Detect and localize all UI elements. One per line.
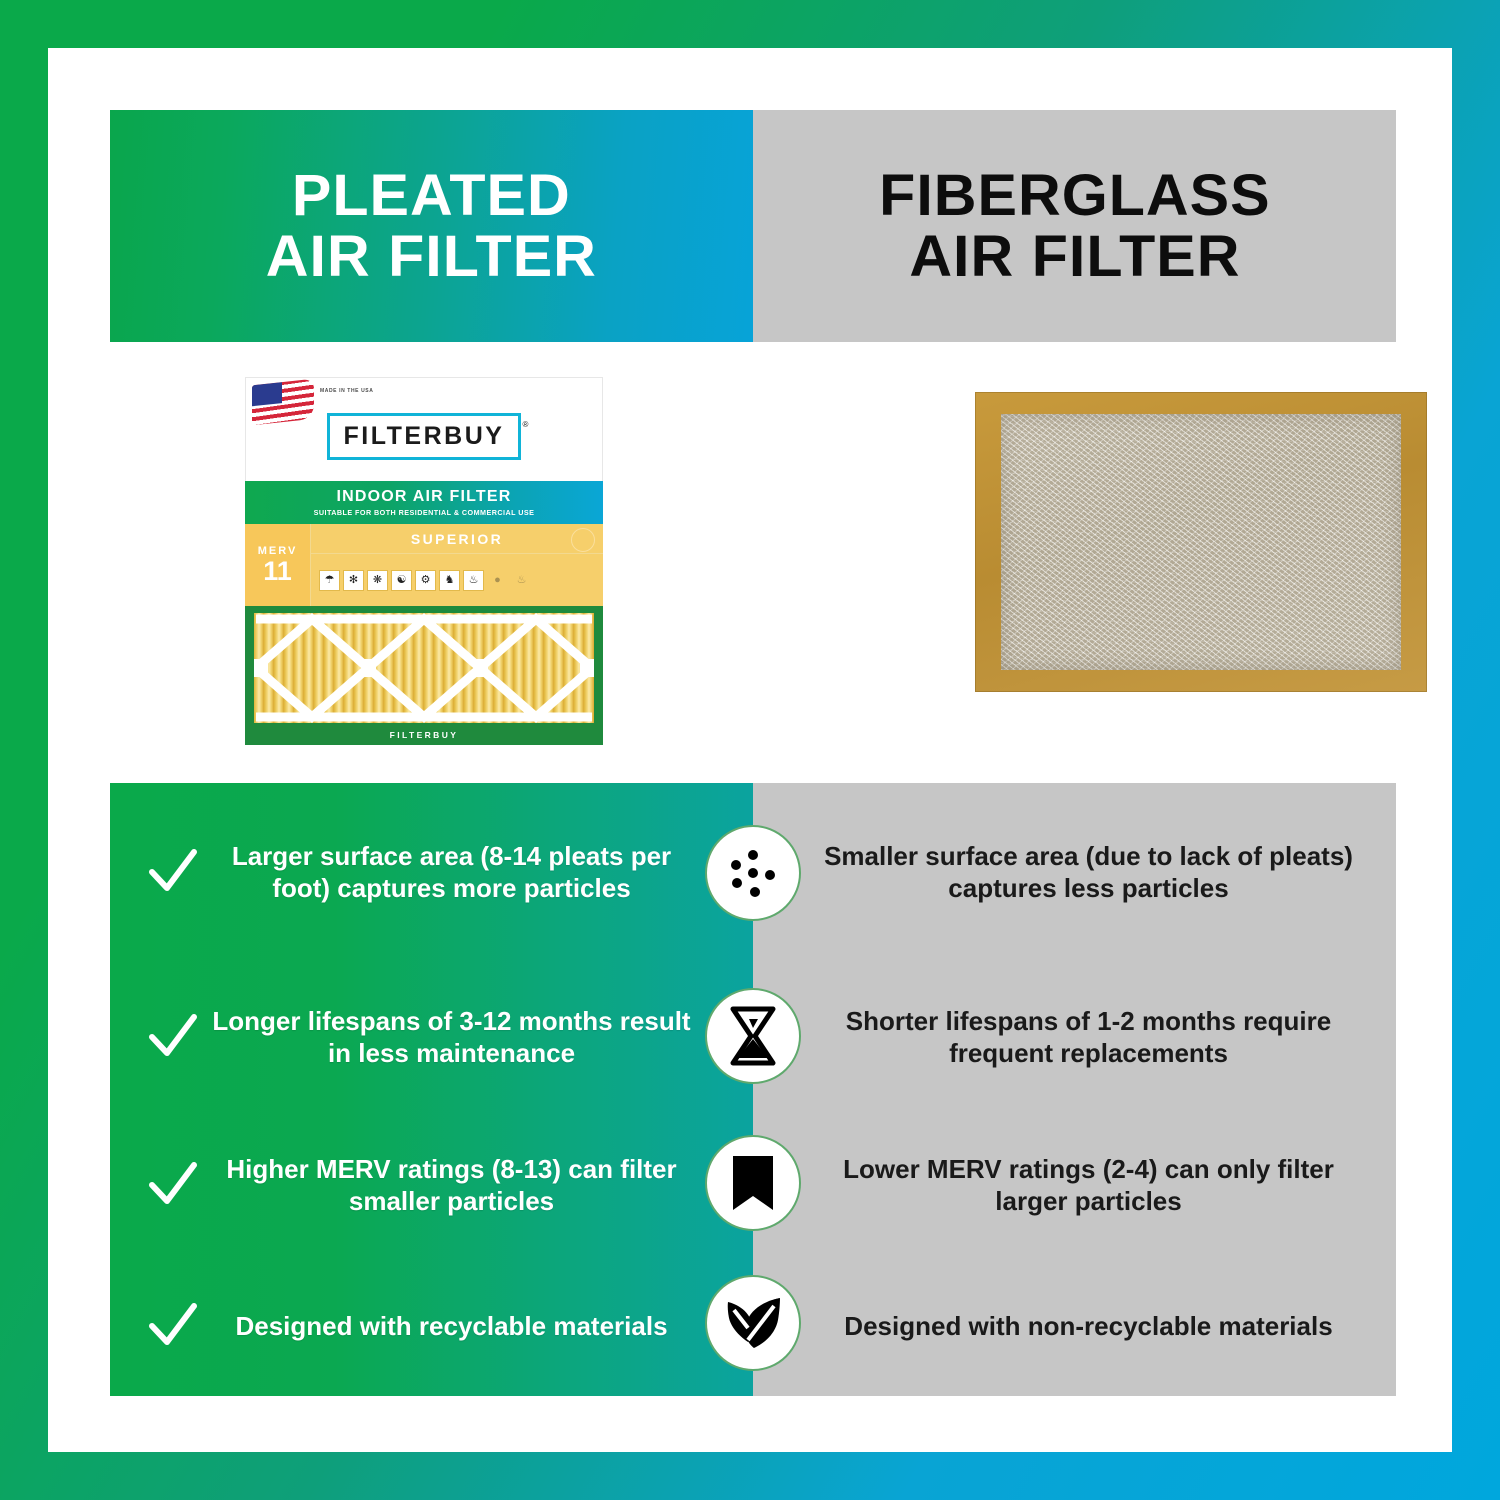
- product-cell-pleated: MADE IN THE USA FILTERBUY ® INDOOR AIR F…: [110, 342, 753, 783]
- comparison-text-pleated: Longer lifespans of 3-12 months result i…: [210, 1006, 693, 1069]
- fiberglass-media: [1001, 414, 1401, 670]
- checkmark-icon: [146, 1300, 200, 1354]
- made-in-usa-label: MADE IN THE USA: [320, 388, 373, 396]
- medallion-leaf: [705, 1275, 801, 1371]
- comparison-text-pleated: Designed with recyclable materials: [210, 1311, 693, 1343]
- medallion-hourglass: [705, 988, 801, 1084]
- comparison-cell-pleated: Designed with recyclable materials: [110, 1258, 753, 1396]
- header-fiberglass-title: FIBERGLASS AIR FILTER: [879, 165, 1270, 288]
- checkmark-icon: [146, 1011, 200, 1065]
- package-top-section: MADE IN THE USA FILTERBUY ®: [245, 377, 603, 481]
- hourglass-icon: [725, 1005, 781, 1067]
- product-cell-fiberglass: [753, 342, 1396, 783]
- usa-flag-icon: [252, 379, 314, 426]
- bookmark-icon: [729, 1154, 777, 1212]
- comparison-cell-fiberglass: Designed with non-recyclable materials: [753, 1258, 1396, 1396]
- smoke-icon: ♨: [463, 570, 484, 591]
- package-tier-label: SUPERIOR: [311, 524, 603, 554]
- comparison-cell-pleated: Larger surface area (8-14 pleats per foo…: [110, 783, 753, 963]
- dust-icon: ☂: [319, 570, 340, 591]
- comparison-text-fiberglass: Designed with non-recyclable materials: [844, 1311, 1332, 1343]
- trademark-symbol: ®: [523, 420, 529, 429]
- header-pleated-title: PLEATED AIR FILTER: [266, 165, 597, 288]
- comparison-infographic: PLEATED AIR FILTER FIBERGLASS AIR FILTER…: [0, 0, 1500, 1500]
- package-feature-icons: ☂ ✻ ❋ ☯ ⚙ ♞ ♨ ● ♨: [311, 554, 603, 606]
- comparison-cell-fiberglass: Shorter lifespans of 1-2 months require …: [753, 963, 1396, 1113]
- fiberglass-filter-product-image: [975, 392, 1427, 692]
- dust-mite-icon: ✻: [343, 570, 364, 591]
- package-banner: INDOOR AIR FILTER SUITABLE FOR BOTH RESI…: [245, 481, 603, 524]
- package-banner-title: INDOOR AIR FILTER: [336, 488, 511, 506]
- comparison-text-fiberglass: Lower MERV ratings (2-4) can only filter…: [821, 1154, 1356, 1217]
- comparison-text-pleated: Larger surface area (8-14 pleats per foo…: [210, 841, 693, 904]
- comparison-rows: Larger surface area (8-14 pleats per foo…: [110, 783, 1396, 1396]
- comparison-text-fiberglass: Smaller surface area (due to lack of ple…: [821, 841, 1356, 904]
- bacteria-icon: ⚙: [415, 570, 436, 591]
- filterbuy-logo-text: FILTERBUY: [344, 422, 505, 450]
- comparison-panel: Larger surface area (8-14 pleats per foo…: [110, 783, 1396, 1396]
- product-images-row: MADE IN THE USA FILTERBUY ® INDOOR AIR F…: [110, 342, 1396, 783]
- white-support-lattice: [254, 613, 594, 723]
- pet-dander-icon: ♞: [439, 570, 460, 591]
- comparison-cell-fiberglass: Smaller surface area (due to lack of ple…: [753, 783, 1396, 963]
- header-row: PLEATED AIR FILTER FIBERGLASS AIR FILTER: [110, 110, 1396, 342]
- package-tier-section: SUPERIOR ☂ ✻ ❋ ☯ ⚙ ♞ ♨ ● ♨: [311, 524, 603, 606]
- particles-icon: [722, 842, 784, 904]
- mold-spore-icon: ☯: [391, 570, 412, 591]
- virus-icon: ●: [487, 570, 508, 591]
- medallion-bookmark: [705, 1135, 801, 1231]
- package-banner-subtitle: SUITABLE FOR BOTH RESIDENTIAL & COMMERCI…: [314, 508, 535, 517]
- comparison-cell-fiberglass: Lower MERV ratings (2-4) can only filter…: [753, 1113, 1396, 1258]
- checkmark-icon: [146, 846, 200, 900]
- filterbuy-logo: FILTERBUY ®: [327, 413, 522, 460]
- header-pleated: PLEATED AIR FILTER: [110, 110, 753, 342]
- ul-certification-badge: [571, 528, 595, 552]
- comparison-text-pleated: Higher MERV ratings (8-13) can filter sm…: [210, 1154, 693, 1217]
- odor-icon: ♨: [511, 570, 532, 591]
- pleated-filter-product-image: MADE IN THE USA FILTERBUY ® INDOOR AIR F…: [245, 377, 603, 745]
- checkmark-icon: [146, 1159, 200, 1213]
- pollen-icon: ❋: [367, 570, 388, 591]
- header-fiberglass: FIBERGLASS AIR FILTER: [753, 110, 1396, 342]
- medallion-particles: [705, 825, 801, 921]
- merv-badge: MERV 11: [245, 524, 311, 606]
- comparison-cell-pleated: Longer lifespans of 3-12 months result i…: [110, 963, 753, 1113]
- leaf-icon: [722, 1294, 784, 1352]
- package-footer-brand: FILTERBUY: [245, 730, 603, 740]
- package-merv-section: MERV 11 SUPERIOR ☂ ✻ ❋ ☯ ⚙ ♞ ♨: [245, 524, 603, 606]
- comparison-text-fiberglass: Shorter lifespans of 1-2 months require …: [821, 1006, 1356, 1069]
- merv-value: 11: [263, 558, 292, 585]
- pleated-media-area: FILTERBUY: [245, 606, 603, 745]
- comparison-cell-pleated: Higher MERV ratings (8-13) can filter sm…: [110, 1113, 753, 1258]
